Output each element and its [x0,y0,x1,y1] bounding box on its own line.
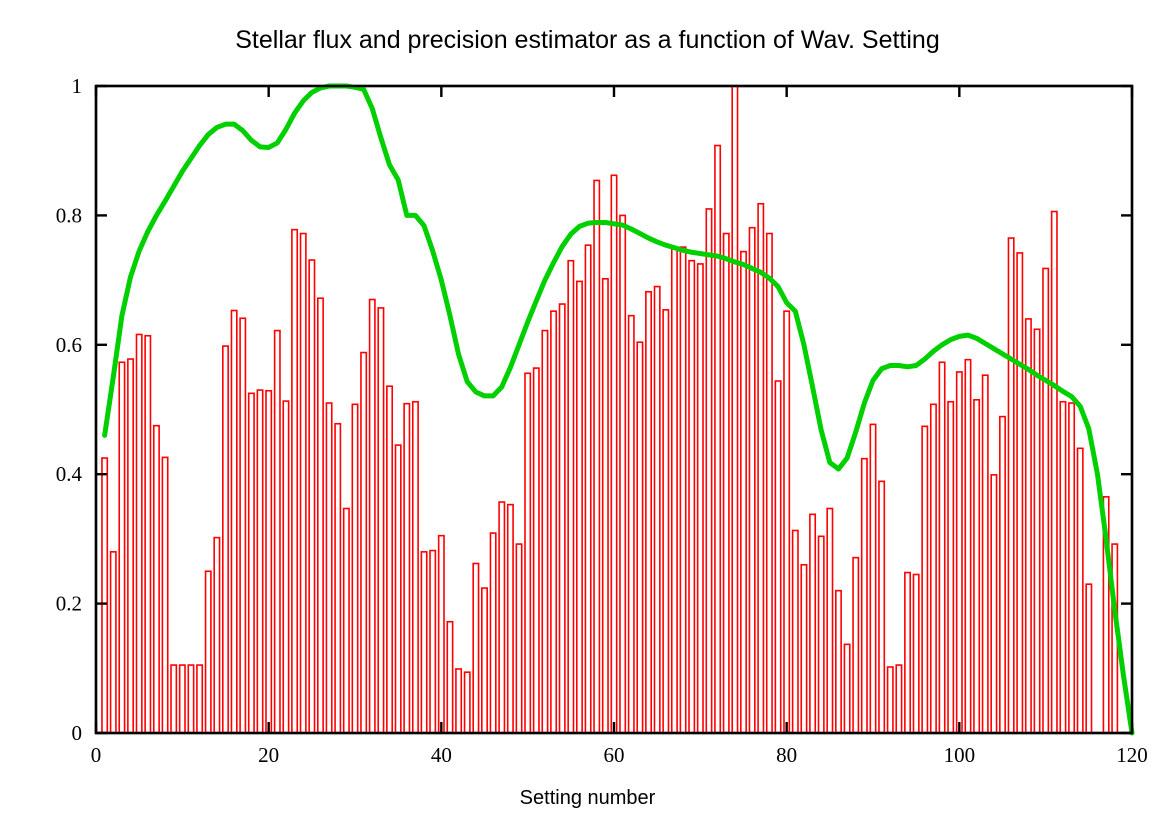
x-tick-label: 0 [91,743,102,767]
bar [499,502,504,733]
bar [1086,584,1091,733]
bar [1008,238,1013,733]
bar [309,260,314,733]
bar [231,311,236,733]
bar [413,402,418,733]
bar [344,508,349,733]
bar [490,533,495,733]
bar [214,538,219,733]
bar [456,669,461,733]
bar [1017,253,1022,733]
bar [482,588,487,733]
bar [801,565,806,733]
plot-border-top [96,86,1132,733]
line-series [105,86,1132,733]
bar [551,311,556,733]
bar [1060,402,1065,733]
bar [905,573,910,733]
bar [913,574,918,733]
bar [473,563,478,733]
bar [516,544,521,733]
bar [1052,212,1057,733]
bar [654,287,659,733]
x-axis-label: Setting number [0,787,1175,810]
bar [896,665,901,733]
bar [732,86,737,733]
bar [706,209,711,733]
bar [534,368,539,733]
bar [646,292,651,733]
bar [957,372,962,733]
bar [767,234,772,733]
bar [560,304,565,733]
x-tick-label: 120 [1116,743,1148,767]
bar [793,530,798,733]
bar [568,261,573,733]
bar [974,400,979,733]
bar [698,264,703,733]
bar [620,215,625,733]
bar [378,308,383,733]
bar [870,424,875,733]
bar [439,536,444,733]
bar [724,234,729,733]
bar [888,667,893,733]
bar [171,665,176,733]
y-tick-label: 0.6 [56,333,82,357]
bar [387,386,392,733]
bar [102,458,107,733]
bar [542,331,547,733]
bar [352,404,357,733]
bar [154,426,159,733]
bar [188,665,193,733]
bar [136,334,141,733]
x-tick-label: 60 [604,743,625,767]
bar [862,459,867,733]
bar [585,245,590,733]
y-tick-label: 0 [72,721,83,745]
x-tick-label: 100 [944,743,976,767]
bar [853,558,858,733]
bar [1000,417,1005,733]
bar [965,360,970,733]
bar [1078,448,1083,733]
bar [1034,329,1039,733]
bar [326,403,331,733]
bar [292,230,297,733]
bar-series [102,86,1117,733]
bar [577,281,582,733]
bar [680,247,685,733]
bar [879,481,884,733]
bar [370,300,375,733]
bar [180,665,185,733]
bar [1069,403,1074,733]
bar [240,318,245,733]
bar [611,175,616,733]
bar [275,331,280,733]
bar [775,381,780,733]
bar [637,342,642,733]
bar [145,336,150,733]
bar [603,279,608,733]
bar [741,252,746,733]
bar [939,362,944,733]
plot-border [96,86,1132,733]
bar [948,402,953,733]
bar [922,426,927,733]
bar [1026,319,1031,733]
bar [111,552,116,733]
bar [283,401,288,733]
bar [465,672,470,733]
bar [525,373,530,733]
bar [715,146,720,733]
bar [672,248,677,733]
x-tick-label: 80 [776,743,797,767]
bar [663,310,668,733]
bar [128,359,133,733]
y-tick-label: 0.2 [56,592,82,616]
bar [361,353,366,733]
bar [931,404,936,733]
bar [430,551,435,733]
bar [395,445,400,733]
bar [266,391,271,733]
bar [836,591,841,733]
bar [223,346,228,733]
bar [249,393,254,733]
x-tick-label: 40 [431,743,452,767]
bar [318,298,323,733]
bar [508,505,513,733]
y-tick-label: 0.4 [56,462,83,486]
y-tick-label: 1 [72,74,83,98]
bar [983,375,988,733]
bar [819,536,824,733]
plot-canvas: 00.20.40.60.81020406080100120 [0,0,1175,825]
bar [991,475,996,733]
bar [404,404,409,733]
bar [197,665,202,733]
bar [758,204,763,733]
bar [119,362,124,733]
bar [206,571,211,733]
bar [689,261,694,733]
bar [629,316,634,733]
x-tick-label: 20 [258,743,279,767]
bar [257,390,262,733]
bar [749,228,754,733]
bar [1043,268,1048,733]
bar [421,552,426,733]
bar [594,180,599,733]
bar [335,424,340,733]
bar [810,514,815,733]
y-tick-label: 0.8 [56,203,82,227]
bar [447,622,452,733]
bar [784,311,789,733]
bar [162,457,167,733]
chart-figure: Stellar flux and precision estimator as … [0,0,1175,825]
bar [844,644,849,733]
bar [301,234,306,733]
bar [827,508,832,733]
